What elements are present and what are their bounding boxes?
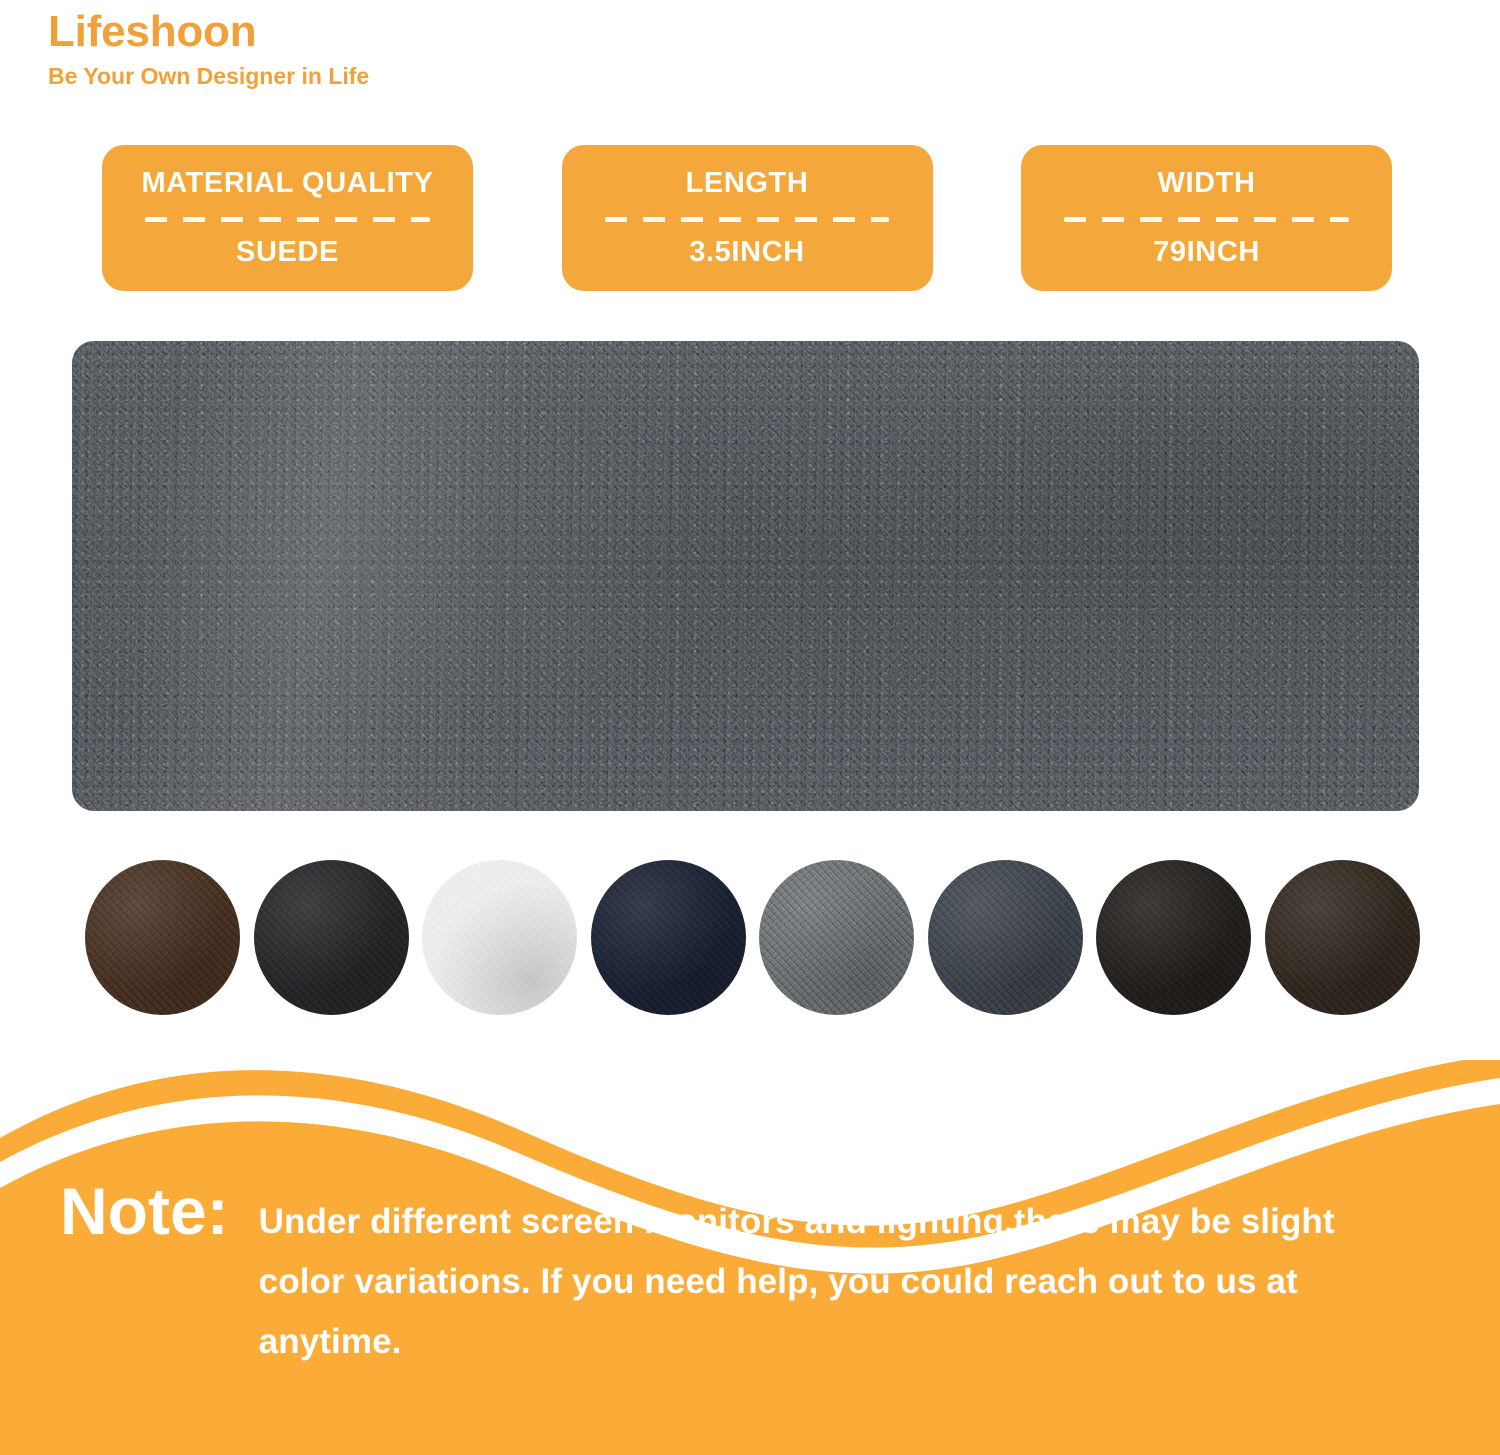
dashed-divider bbox=[145, 217, 430, 222]
swatch-shading bbox=[928, 860, 1083, 1015]
note-text: Under different screen monitors and ligh… bbox=[259, 1178, 1389, 1373]
spec-card-width: WIDTH 79INCH bbox=[1021, 145, 1392, 291]
dashed-divider bbox=[605, 217, 890, 222]
product-photo bbox=[72, 341, 1419, 811]
color-swatch[interactable] bbox=[928, 860, 1083, 1015]
swatch-shading bbox=[1096, 860, 1251, 1015]
spec-card-material-quality: MATERIAL QUALITY SUEDE bbox=[102, 145, 473, 291]
swatch-shading bbox=[591, 860, 746, 1015]
swatch-shading bbox=[422, 860, 577, 1015]
dashed-divider bbox=[1064, 217, 1349, 222]
spec-title: WIDTH bbox=[1157, 168, 1255, 200]
spec-value: 3.5INCH bbox=[689, 237, 804, 269]
swatch-shading bbox=[759, 860, 914, 1015]
product-infographic: Lifeshoon Be Your Own Designer in Life M… bbox=[0, 0, 1500, 1455]
swatch-shading bbox=[1265, 860, 1420, 1015]
brand-name: Lifeshoon bbox=[48, 8, 748, 56]
note-content: Note: Under different screen monitors an… bbox=[0, 1178, 1500, 1373]
spec-card-length: LENGTH 3.5INCH bbox=[562, 145, 933, 291]
photo-sheen-layer bbox=[72, 341, 1419, 811]
color-swatch[interactable] bbox=[591, 860, 746, 1015]
brand-header: Lifeshoon Be Your Own Designer in Life bbox=[48, 8, 748, 89]
spec-title: MATERIAL QUALITY bbox=[141, 168, 433, 200]
color-swatch[interactable] bbox=[422, 860, 577, 1015]
spec-card-row: MATERIAL QUALITY SUEDE LENGTH 3.5INCH WI… bbox=[102, 145, 1392, 291]
color-swatch[interactable] bbox=[759, 860, 914, 1015]
color-swatch-row bbox=[85, 858, 1420, 1016]
spec-value: SUEDE bbox=[236, 237, 339, 269]
spec-title: LENGTH bbox=[686, 168, 809, 200]
swatch-shading bbox=[85, 860, 240, 1015]
swatch-shading bbox=[254, 860, 409, 1015]
spec-value: 79INCH bbox=[1153, 237, 1260, 269]
note-label: Note: bbox=[60, 1178, 229, 1244]
color-swatch[interactable] bbox=[1096, 860, 1251, 1015]
color-swatch[interactable] bbox=[85, 860, 240, 1015]
note-band: Note: Under different screen monitors an… bbox=[0, 1060, 1500, 1455]
color-swatch[interactable] bbox=[254, 860, 409, 1015]
brand-tagline: Be Your Own Designer in Life bbox=[48, 64, 748, 89]
color-swatch[interactable] bbox=[1265, 860, 1420, 1015]
